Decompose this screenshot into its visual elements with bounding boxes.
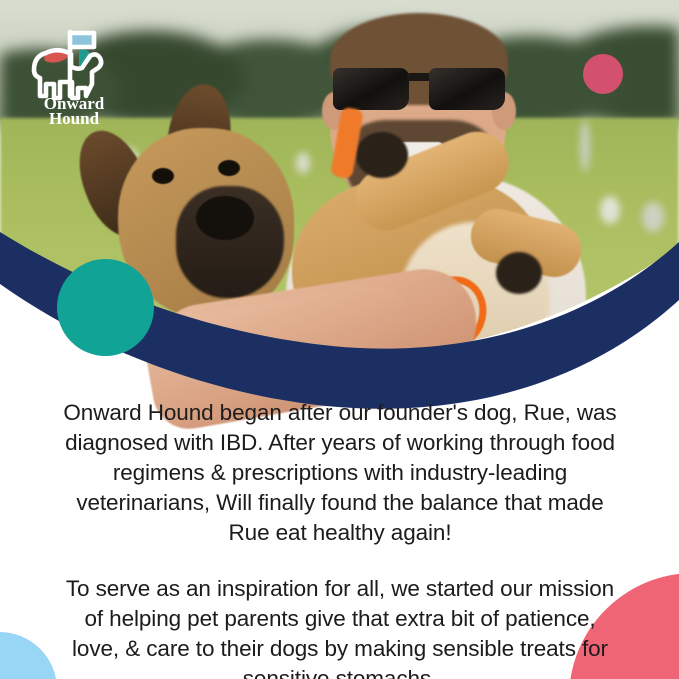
dog-nose bbox=[196, 196, 254, 240]
story-paragraph-1: Onward Hound began after our founder's d… bbox=[62, 398, 618, 548]
teal-accent-dot bbox=[57, 259, 154, 356]
background-person-3 bbox=[600, 196, 620, 224]
sky-blue-accent-circle bbox=[0, 632, 57, 679]
background-marker bbox=[580, 120, 590, 172]
brand-story-card: Onward Hound Onward Hound began after ou… bbox=[0, 0, 679, 679]
sunglasses-icon bbox=[333, 68, 505, 110]
pink-accent-dot bbox=[583, 54, 623, 94]
sunglass-lens-right bbox=[429, 68, 505, 110]
dog-with-flag-icon bbox=[34, 32, 101, 98]
background-person-2 bbox=[296, 152, 310, 174]
puppy-front-paw bbox=[356, 132, 408, 178]
story-paragraph-2: To serve as an inspiration for all, we s… bbox=[62, 574, 618, 679]
puppy-hind-paw bbox=[496, 252, 542, 294]
logo-text-line-2: Hound bbox=[49, 109, 100, 126]
background-person-4 bbox=[642, 202, 664, 232]
onward-hound-logo[interactable]: Onward Hound bbox=[24, 26, 124, 126]
sunglass-lens-left bbox=[333, 68, 409, 110]
brand-story-copy: Onward Hound began after our founder's d… bbox=[62, 398, 618, 679]
dog-eye-left bbox=[152, 168, 174, 184]
dog-eye-right bbox=[218, 160, 240, 176]
sunglass-bridge bbox=[407, 73, 431, 81]
